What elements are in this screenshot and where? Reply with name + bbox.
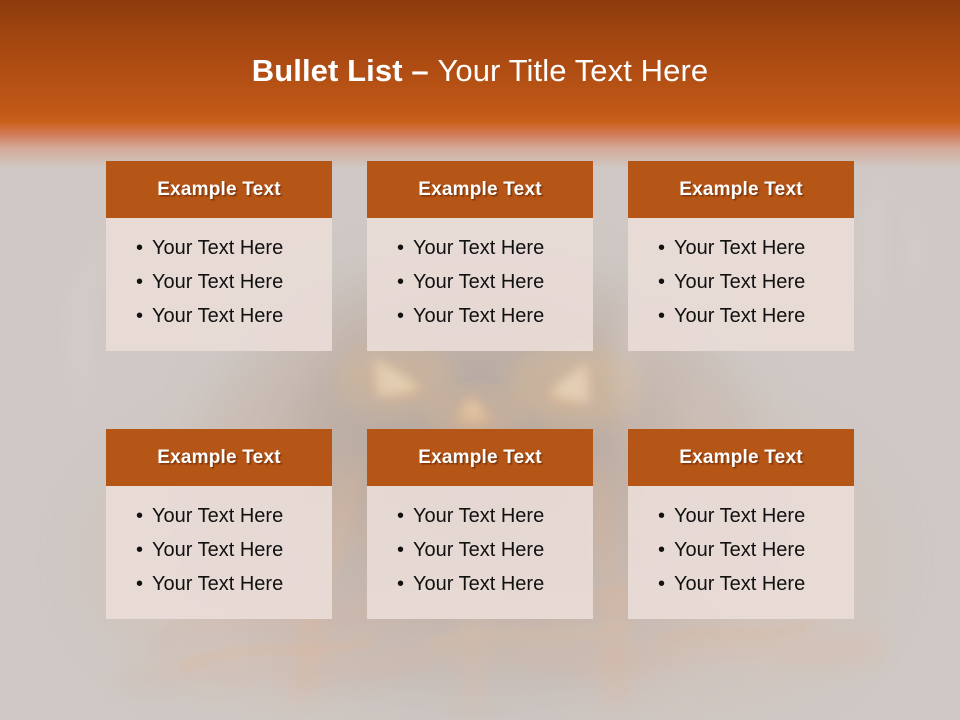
bullet-text: Your Text Here xyxy=(413,540,544,560)
bullet-list-1: • Your Text Here • Your Text Here • Your… xyxy=(106,231,332,333)
card-header-label: Example Text xyxy=(157,447,281,469)
bullet-text: Your Text Here xyxy=(674,238,805,258)
bullet-card-2[interactable]: Example Text • Your Text Here • Your Tex… xyxy=(367,161,593,351)
bullet-text: Your Text Here xyxy=(152,540,283,560)
card-body-4: • Your Text Here • Your Text Here • Your… xyxy=(106,486,332,619)
card-header-label: Example Text xyxy=(679,179,803,201)
bullet-dot-icon: • xyxy=(136,272,152,292)
bullet-dot-icon: • xyxy=(658,272,674,292)
card-header-1: Example Text xyxy=(106,161,332,218)
card-header-label: Example Text xyxy=(157,179,281,201)
bullet-text: Your Text Here xyxy=(413,238,544,258)
bullet-text: Your Text Here xyxy=(152,506,283,526)
bullet-dot-icon: • xyxy=(397,238,413,258)
bullet-dot-icon: • xyxy=(136,506,152,526)
bullet-text: Your Text Here xyxy=(413,272,544,292)
list-item: • Your Text Here xyxy=(628,533,854,567)
bullet-text: Your Text Here xyxy=(674,574,805,594)
bullet-card-4[interactable]: Example Text • Your Text Here • Your Tex… xyxy=(106,429,332,619)
list-item: • Your Text Here xyxy=(367,265,593,299)
page-title: Bullet List – Your Title Text Here xyxy=(0,52,960,91)
card-body-5: • Your Text Here • Your Text Here • Your… xyxy=(367,486,593,619)
bullet-list-2: • Your Text Here • Your Text Here • Your… xyxy=(367,231,593,333)
bullet-dot-icon: • xyxy=(658,238,674,258)
list-item: • Your Text Here xyxy=(628,299,854,333)
bullet-dot-icon: • xyxy=(136,574,152,594)
list-item: • Your Text Here xyxy=(628,231,854,265)
card-header-3: Example Text xyxy=(628,161,854,218)
bullet-text: Your Text Here xyxy=(674,506,805,526)
card-header-5: Example Text xyxy=(367,429,593,486)
list-item: • Your Text Here xyxy=(106,567,332,601)
bullet-dot-icon: • xyxy=(397,506,413,526)
bullet-text: Your Text Here xyxy=(413,574,544,594)
card-body-2: • Your Text Here • Your Text Here • Your… xyxy=(367,218,593,351)
card-header-label: Example Text xyxy=(418,447,542,469)
bullet-text: Your Text Here xyxy=(674,272,805,292)
bullet-text: Your Text Here xyxy=(413,506,544,526)
bullet-dot-icon: • xyxy=(136,306,152,326)
card-body-3: • Your Text Here • Your Text Here • Your… xyxy=(628,218,854,351)
page-title-strong: Bullet List xyxy=(252,53,412,88)
bullet-dot-icon: • xyxy=(397,540,413,560)
bullet-dot-icon: • xyxy=(397,272,413,292)
bullet-list-5: • Your Text Here • Your Text Here • Your… xyxy=(367,499,593,601)
list-item: • Your Text Here xyxy=(106,265,332,299)
bullet-dot-icon: • xyxy=(658,306,674,326)
slide-canvas: Bullet List – Your Title Text Here Examp… xyxy=(0,0,960,720)
list-item: • Your Text Here xyxy=(367,299,593,333)
bullet-list-3: • Your Text Here • Your Text Here • Your… xyxy=(628,231,854,333)
list-item: • Your Text Here xyxy=(367,567,593,601)
bullet-dot-icon: • xyxy=(136,540,152,560)
bullet-text: Your Text Here xyxy=(152,272,283,292)
card-body-6: • Your Text Here • Your Text Here • Your… xyxy=(628,486,854,619)
list-item: • Your Text Here xyxy=(628,499,854,533)
card-row-top: Example Text • Your Text Here • Your Tex… xyxy=(106,161,854,351)
bullet-card-5[interactable]: Example Text • Your Text Here • Your Tex… xyxy=(367,429,593,619)
card-header-6: Example Text xyxy=(628,429,854,486)
bullet-list-4: • Your Text Here • Your Text Here • Your… xyxy=(106,499,332,601)
list-item: • Your Text Here xyxy=(628,567,854,601)
list-item: • Your Text Here xyxy=(106,231,332,265)
card-header-4: Example Text xyxy=(106,429,332,486)
bullet-text: Your Text Here xyxy=(152,306,283,326)
card-header-2: Example Text xyxy=(367,161,593,218)
page-title-separator: – xyxy=(411,53,437,88)
list-item: • Your Text Here xyxy=(106,533,332,567)
bullet-text: Your Text Here xyxy=(674,540,805,560)
list-item: • Your Text Here xyxy=(367,533,593,567)
bullet-card-1[interactable]: Example Text • Your Text Here • Your Tex… xyxy=(106,161,332,351)
card-row-bottom: Example Text • Your Text Here • Your Tex… xyxy=(106,429,854,619)
list-item: • Your Text Here xyxy=(367,231,593,265)
bullet-text: Your Text Here xyxy=(152,238,283,258)
bullet-card-3[interactable]: Example Text • Your Text Here • Your Tex… xyxy=(628,161,854,351)
list-item: • Your Text Here xyxy=(367,499,593,533)
list-item: • Your Text Here xyxy=(106,499,332,533)
card-header-label: Example Text xyxy=(418,179,542,201)
card-header-label: Example Text xyxy=(679,447,803,469)
page-title-light: Your Title Text Here xyxy=(437,53,708,88)
bullet-card-6[interactable]: Example Text • Your Text Here • Your Tex… xyxy=(628,429,854,619)
bullet-text: Your Text Here xyxy=(152,574,283,594)
bullet-dot-icon: • xyxy=(397,306,413,326)
bullet-text: Your Text Here xyxy=(413,306,544,326)
bullet-text: Your Text Here xyxy=(674,306,805,326)
bullet-dot-icon: • xyxy=(658,506,674,526)
list-item: • Your Text Here xyxy=(628,265,854,299)
bullet-dot-icon: • xyxy=(658,574,674,594)
bullet-dot-icon: • xyxy=(397,574,413,594)
card-body-1: • Your Text Here • Your Text Here • Your… xyxy=(106,218,332,351)
list-item: • Your Text Here xyxy=(106,299,332,333)
bullet-dot-icon: • xyxy=(136,238,152,258)
bullet-list-6: • Your Text Here • Your Text Here • Your… xyxy=(628,499,854,601)
bullet-dot-icon: • xyxy=(658,540,674,560)
